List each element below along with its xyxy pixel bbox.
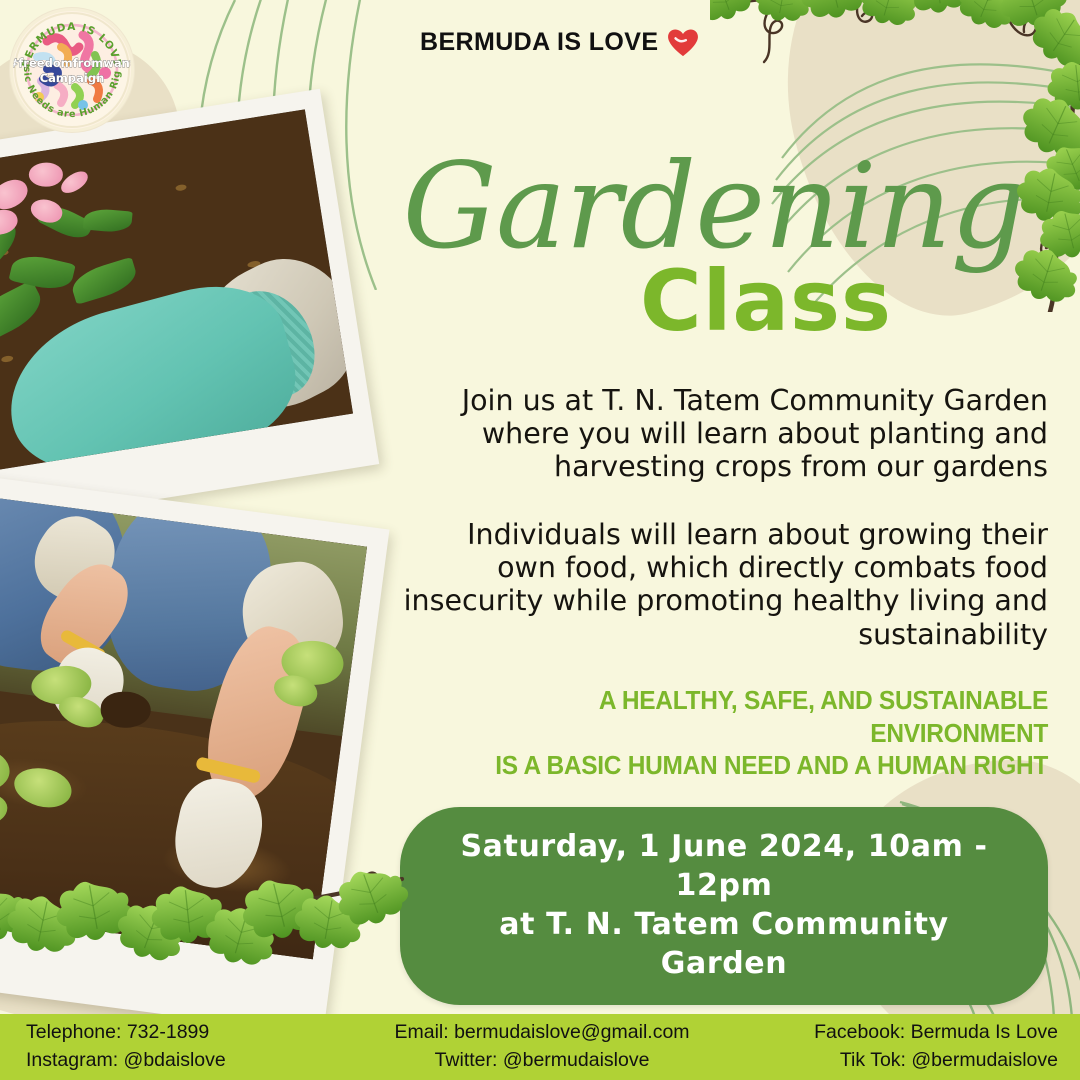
- footer-column-left: Telephone: 732-1899 Instagram: @bdaislov…: [0, 1019, 370, 1074]
- footer-twitter[interactable]: Twitter: @bermudaislove: [370, 1047, 714, 1075]
- event-datetime: Saturday, 1 June 2024, 10am - 12pm: [434, 827, 1014, 905]
- bermuda-is-love-logo[interactable]: BERMUDA IS LOVE Basic Needs are Human Ri…: [10, 8, 134, 132]
- logo-center-line2: Campaign: [40, 71, 105, 85]
- footer-contact-bar: Telephone: 732-1899 Instagram: @bdaislov…: [0, 1014, 1080, 1080]
- slogan: A HEALTHY, SAFE, AND SUSTAINABLE ENVIRON…: [426, 685, 1048, 783]
- footer-facebook[interactable]: Facebook: Bermuda Is Love: [714, 1019, 1058, 1047]
- slogan-line-1: A HEALTHY, SAFE, AND SUSTAINABLE ENVIRON…: [426, 685, 1048, 750]
- footer-column-right: Facebook: Bermuda Is Love Tik Tok: @berm…: [714, 1019, 1080, 1074]
- footer-column-center: Email: bermudaislove@gmail.com Twitter: …: [370, 1019, 714, 1074]
- photo-planting-pink-flower: [0, 89, 379, 528]
- brand-wordmark: BERMUDA IS LOVE: [420, 28, 658, 57]
- content-column: Gardening Class Join us at T. N. Tatem C…: [400, 150, 1048, 1005]
- photo-planting-lettuce-image: [0, 497, 367, 959]
- footer-telephone[interactable]: Telephone: 732-1899: [26, 1019, 370, 1047]
- heart-icon: [668, 29, 698, 57]
- photo-planting-lettuce: [0, 475, 389, 1035]
- footer-email[interactable]: Email: bermudaislove@gmail.com: [370, 1019, 714, 1047]
- title-script: Gardening: [390, 150, 1038, 262]
- footer-instagram[interactable]: Instagram: @bdaislove: [26, 1047, 370, 1075]
- brand-header: BERMUDA IS LOVE: [420, 28, 698, 57]
- detail-paragraph: Individuals will learn about growing the…: [400, 518, 1048, 651]
- event-details-banner[interactable]: Saturday, 1 June 2024, 10am - 12pm at T.…: [400, 807, 1048, 1005]
- slogan-line-2: IS A BASIC HUMAN NEED AND A HUMAN RIGHT: [426, 750, 1048, 783]
- event-location: at T. N. Tatem Community Garden: [434, 905, 1014, 983]
- logo-center-line1: #freedomfromwant: [13, 56, 131, 70]
- poster-canvas: BERMUDA IS LOVE Basic Needs are Human Ri…: [0, 0, 1080, 1080]
- photo-planting-pink-flower-image: [0, 109, 353, 471]
- footer-tiktok[interactable]: Tik Tok: @bermudaislove: [714, 1047, 1058, 1075]
- title-bold: Class: [442, 264, 1080, 340]
- intro-paragraph: Join us at T. N. Tatem Community Garden …: [400, 384, 1048, 484]
